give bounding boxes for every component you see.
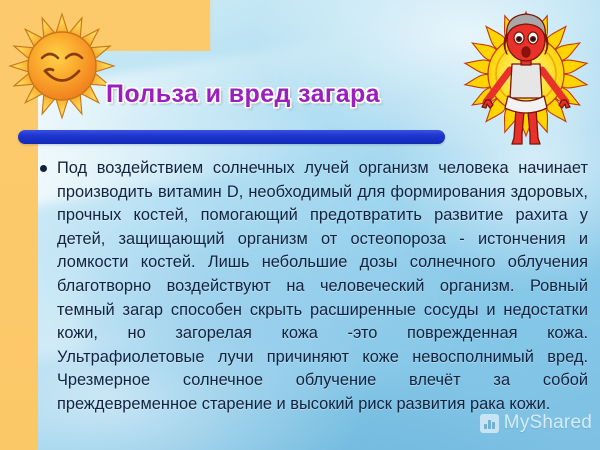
presentation-slide: Польза и вред загара <box>0 0 600 450</box>
bullet-point-icon <box>40 165 47 172</box>
body-bullet-item: Под воздействием солнечных лучей организ… <box>40 157 588 417</box>
body-paragraph: Под воздействием солнечных лучей организ… <box>57 157 588 417</box>
title-underline-bar <box>18 130 445 144</box>
top-amber-panel-fade <box>198 0 214 51</box>
sunburned-person-illustration <box>452 2 600 150</box>
slide-title: Польза и вред загара <box>106 80 380 109</box>
